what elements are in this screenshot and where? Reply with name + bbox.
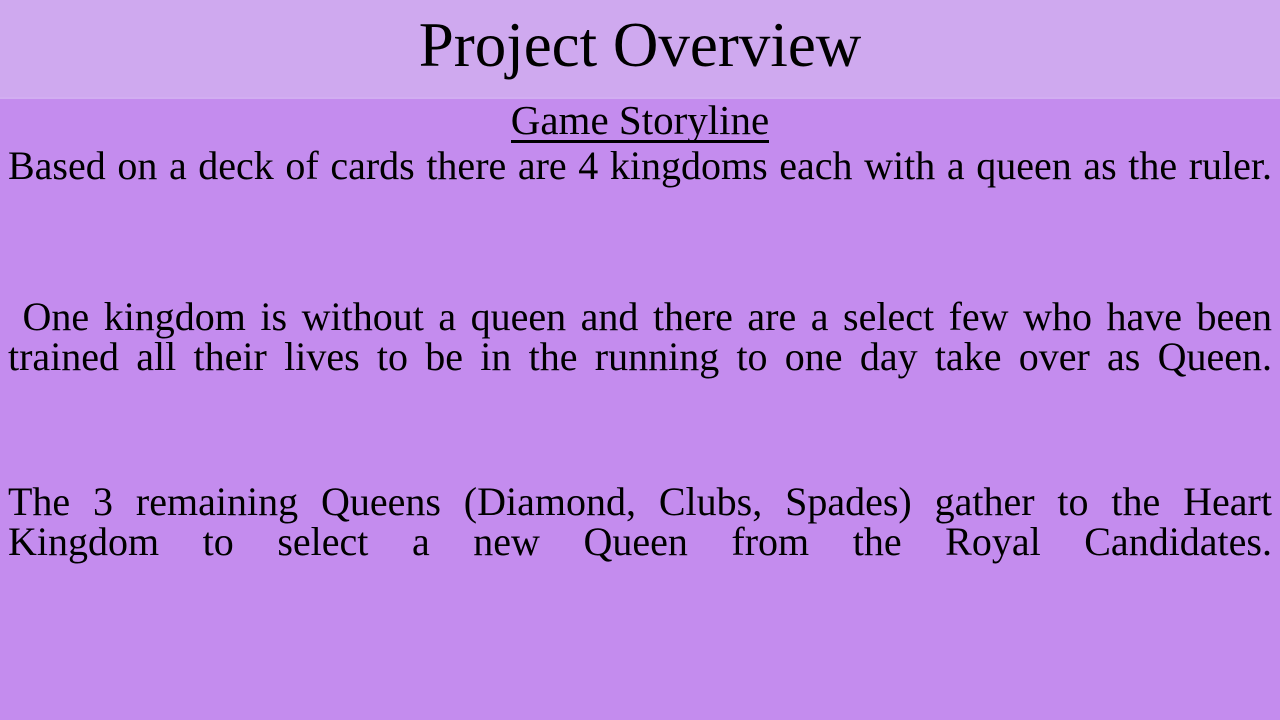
paragraph-spacer-2 [8,417,1272,482]
section-heading: Game Storyline [511,99,769,143]
page-title: Project Overview [0,0,1280,97]
section-heading-wrapper: Game Storyline [0,99,1280,143]
body-text-block: Based on a deck of cards there are 4 kin… [8,146,1272,602]
paragraph-2: One kingdom is without a queen and there… [8,297,1272,417]
slide-body: Game Storyline Based on a deck of cards … [0,99,1280,720]
paragraph-spacer-1 [8,226,1272,297]
paragraph-3: The 3 remaining Queens (Diamond, Clubs, … [8,482,1272,602]
paragraph-1: Based on a deck of cards there are 4 kin… [8,146,1272,226]
presentation-slide: Project Overview Game Storyline Based on… [0,0,1280,720]
